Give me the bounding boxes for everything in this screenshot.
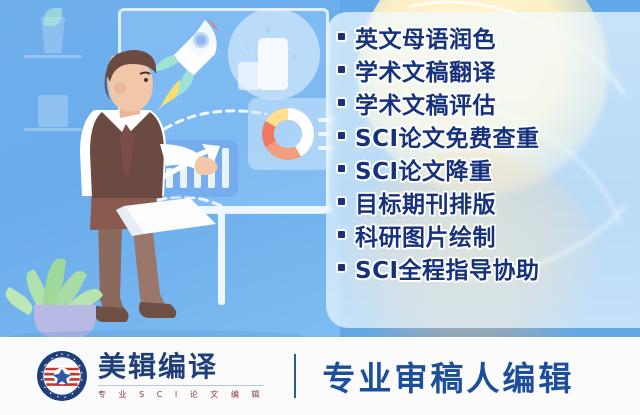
feature-label: SCI论文降重 bbox=[355, 152, 493, 186]
brand-logo: 美辑编译 专 业 S C I 论 文 编 辑 bbox=[98, 353, 264, 400]
donut-chart-icon bbox=[262, 108, 314, 160]
brand-rule bbox=[98, 385, 264, 386]
feature-label: 英文母语润色 bbox=[355, 20, 496, 54]
list-item[interactable]: 目标期刊排版 bbox=[338, 185, 638, 218]
feature-label: 学术文稿翻译 bbox=[355, 53, 496, 87]
feature-label: 科研图片绘制 bbox=[355, 218, 496, 252]
list-item[interactable]: 英文母语润色 bbox=[338, 20, 638, 53]
yen-symbol-icon: ¥ bbox=[246, 44, 250, 53]
square-bullet-icon bbox=[338, 198, 345, 205]
illustration-panel: ¥ ¥ ¥ bbox=[0, 0, 340, 337]
footer-bar: 美辑编译 专 业 S C I 论 文 编 辑 专业审稿人编辑 bbox=[0, 337, 640, 415]
features-list: 英文母语润色 学术文稿翻译 学术文稿评估 SCI论文免费查重 SCI论文降重 目… bbox=[338, 20, 638, 284]
square-bullet-icon bbox=[338, 231, 345, 238]
document-icon bbox=[238, 62, 260, 90]
feature-label: SCI全程指导协助 bbox=[355, 251, 540, 285]
floor-shadow bbox=[8, 330, 308, 337]
yen-symbol-icon: ¥ bbox=[265, 24, 271, 36]
square-bullet-icon bbox=[338, 33, 345, 40]
list-item[interactable]: SCI论文降重 bbox=[338, 152, 638, 185]
list-item[interactable]: SCI论文免费查重 bbox=[338, 119, 638, 152]
list-item[interactable]: SCI全程指导协助 bbox=[338, 251, 638, 284]
feature-label: 学术文稿评估 bbox=[355, 86, 496, 120]
feature-label: 目标期刊排版 bbox=[355, 185, 496, 219]
footer-tagline: 专业审稿人编辑 bbox=[322, 352, 574, 400]
american-academic-seal-icon bbox=[36, 350, 88, 402]
square-bullet-icon bbox=[338, 264, 345, 271]
features-panel: 英文母语润色 学术文稿翻译 学术文稿评估 SCI论文免费查重 SCI论文降重 目… bbox=[316, 0, 640, 337]
square-bullet-icon bbox=[338, 99, 345, 106]
list-item[interactable]: 学术文稿翻译 bbox=[338, 53, 638, 86]
list-item[interactable]: 学术文稿评估 bbox=[338, 86, 638, 119]
square-bullet-icon bbox=[338, 165, 345, 172]
phone-icon bbox=[258, 38, 288, 90]
list-item[interactable]: 科研图片绘制 bbox=[338, 218, 638, 251]
square-bullet-icon bbox=[338, 132, 345, 139]
yen-symbol-icon: ¥ bbox=[292, 52, 297, 62]
brand-subtitle: 专 业 S C I 论 文 编 辑 bbox=[98, 389, 264, 400]
vertical-divider bbox=[294, 354, 296, 398]
brand-name: 美辑编译 bbox=[98, 353, 264, 381]
feature-label: SCI论文免费查重 bbox=[355, 119, 540, 153]
promotional-poster: ¥ ¥ ¥ bbox=[0, 0, 640, 415]
square-bullet-icon bbox=[338, 66, 345, 73]
